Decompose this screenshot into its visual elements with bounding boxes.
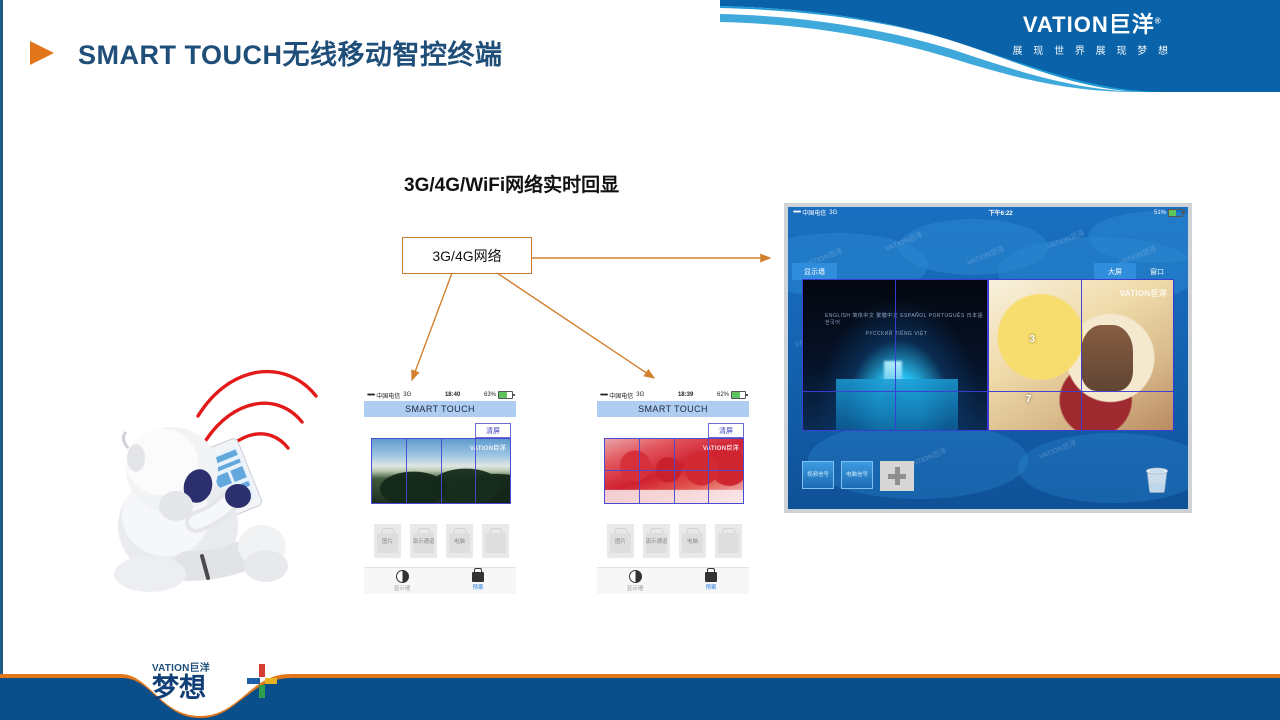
tab-display-wall[interactable]: 显示墙	[364, 568, 440, 594]
briefcase-icon	[705, 572, 717, 582]
app-title-bar: SMART TOUCH	[597, 401, 749, 417]
ice-sculpture-window[interactable]: ENGLISH 简体中文 繁體中文 ESPAÑOL PORTUGUÊS 日本語 …	[802, 279, 988, 431]
video-signal-button[interactable]: 视频信号	[802, 461, 834, 489]
brand-name: VATION巨洋®	[1013, 14, 1172, 36]
battery-icon	[498, 391, 513, 399]
tab-label: 预案	[705, 583, 716, 591]
app-label: 图片	[607, 537, 634, 545]
brand-logo: VATION巨洋® 展 现 世 界 展 现 梦 想	[1013, 14, 1172, 57]
clear-screen-button[interactable]: 清屏	[475, 423, 511, 438]
carrier-label: 中国电信	[802, 208, 826, 217]
phone-status-bar: ••••• 中国电信 3G 18:39 62%	[597, 389, 749, 401]
footer-brand-name: VATION巨洋	[152, 659, 210, 674]
signal-dots-icon: •••••	[793, 209, 800, 216]
battery-icon	[1168, 209, 1183, 217]
tab-bigscreen[interactable]: 大屏	[1094, 263, 1136, 280]
robot-mascot	[110, 330, 360, 600]
tab-label: 显示墙	[394, 584, 411, 592]
clock-label: 18:40	[421, 392, 484, 398]
app-icon-image[interactable]: 图片	[374, 524, 401, 558]
tab-label: 预案	[472, 583, 483, 591]
tablet-screen: VATION巨洋 VATION巨洋 VATION巨洋 VATION巨洋 VATI…	[788, 207, 1188, 509]
window-badge: 7	[1026, 394, 1032, 405]
app-icon-demo-channel[interactable]: 演示通道	[643, 524, 670, 558]
slide: VATION巨洋® 展 现 世 界 展 现 梦 想 SMART TOUCH无线移…	[0, 0, 1280, 720]
clock-label: 下午6:22	[847, 208, 1154, 217]
tab-display-wall[interactable]: 显示墙	[597, 568, 673, 594]
phone-tab-bar: 显示墙 预案	[597, 567, 749, 594]
battery-percent-label: 51%	[1154, 210, 1166, 216]
app-icon-row: 图片 演示通道 电脑	[364, 515, 516, 567]
phone-preview-area: 清屏 VATION巨洋	[364, 417, 516, 515]
footer: VATION巨洋 梦想	[0, 654, 1280, 720]
footer-logo: VATION巨洋 梦想	[152, 659, 210, 702]
brand-name-text: VATION巨洋	[1023, 12, 1155, 37]
plus-icon[interactable]	[880, 461, 914, 491]
left-edge-rule	[0, 0, 3, 680]
video-wall-preview-right[interactable]: VATION巨洋	[604, 438, 744, 504]
contrast-icon	[629, 570, 642, 583]
trash-bin-icon[interactable]	[1144, 465, 1170, 493]
carrier-label: 中国电信	[376, 391, 400, 400]
language-row-1: ENGLISH 简体中文 繁體中文 ESPAÑOL PORTUGUÊS 日本語 …	[825, 312, 987, 326]
language-row-2: РУССКИЙ TIẾNG VIỆT	[866, 331, 928, 337]
app-icon-computer[interactable]: 电脑	[446, 524, 473, 558]
computer-signal-button[interactable]: 电脑信号	[841, 461, 873, 489]
battery-percent-label: 63%	[484, 392, 496, 398]
tab-label: 显示墙	[627, 584, 644, 592]
tablet-left-tabs: 显示墙	[792, 263, 837, 280]
tab-presets[interactable]: 预案	[440, 568, 516, 594]
tab-display-wall[interactable]: 显示墙	[792, 263, 837, 280]
tablet-toolbar: 视频信号 电脑信号	[802, 461, 914, 491]
app-icon-image[interactable]: 图片	[607, 524, 634, 558]
app-icon-computer[interactable]: 电脑	[679, 524, 706, 558]
contrast-icon	[396, 570, 409, 583]
network-label: 3G	[829, 210, 837, 216]
battery-percent-label: 62%	[717, 392, 729, 398]
app-icon-more[interactable]	[482, 524, 509, 558]
briefcase-icon	[472, 572, 484, 582]
clock-label: 18:39	[654, 392, 717, 398]
section-headline: 3G/4G/WiFi网络实时回显	[404, 170, 619, 197]
callout-3g4g-network: 3G/4G网络	[402, 237, 532, 274]
signal-dots-icon: •••••	[600, 392, 607, 399]
tablet-device: VATION巨洋 VATION巨洋 VATION巨洋 VATION巨洋 VATI…	[784, 203, 1192, 513]
phone-tab-bar: 显示墙 预案	[364, 567, 516, 594]
phone-status-bar: ••••• 中国电信 3G 18:40 63%	[364, 389, 516, 401]
app-label: 电脑	[679, 537, 706, 545]
signal-dots-icon: •••••	[367, 392, 374, 399]
phone-mockup-right: ••••• 中国电信 3G 18:39 62% SMART TOUCH 清屏 V…	[597, 389, 749, 594]
phone-preview-area: 清屏 VATION巨洋	[597, 417, 749, 515]
dessert-window[interactable]: 3 7 VATION巨洋	[988, 279, 1174, 431]
app-label: 图片	[374, 537, 401, 545]
app-label: 演示通道	[410, 537, 437, 545]
app-icon-more[interactable]	[715, 524, 742, 558]
tab-window[interactable]: 窗口	[1136, 263, 1178, 280]
carrier-label: 中国电信	[609, 391, 633, 400]
footer-slogan: 梦想	[152, 675, 210, 702]
callout-label: 3G/4G网络	[432, 246, 501, 266]
battery-icon	[731, 391, 746, 399]
window-badge: 3	[1029, 334, 1035, 345]
tab-presets[interactable]: 预案	[673, 568, 749, 594]
video-wall-preview-left[interactable]: VATION巨洋	[371, 438, 511, 504]
registered-mark: ®	[1155, 17, 1162, 26]
brand-tagline: 展 现 世 界 展 现 梦 想	[1013, 42, 1172, 57]
clear-screen-button[interactable]: 清屏	[708, 423, 744, 438]
header-swoosh-graphic	[720, 0, 1280, 92]
network-label: 3G	[403, 392, 411, 398]
app-icon-demo-channel[interactable]: 演示通道	[410, 524, 437, 558]
video-wall-canvas[interactable]: ENGLISH 简体中文 繁體中文 ESPAÑOL PORTUGUÊS 日本語 …	[802, 279, 1174, 431]
tablet-right-tabs: 大屏 窗口	[1094, 263, 1178, 280]
app-icon-row: 图片 演示通道 电脑	[597, 515, 749, 567]
network-label: 3G	[636, 392, 644, 398]
pinwheel-plus-icon	[247, 664, 277, 698]
app-title-bar: SMART TOUCH	[364, 401, 516, 417]
app-label: 电脑	[446, 537, 473, 545]
triangle-right-icon	[30, 41, 54, 65]
watermark: VATION巨洋	[1120, 288, 1167, 299]
phone-mockup-left: ••••• 中国电信 3G 18:40 63% SMART TOUCH 清屏 V…	[364, 389, 516, 594]
page-title: SMART TOUCH无线移动智控终端	[78, 33, 503, 72]
app-label: 演示通道	[643, 537, 670, 545]
tablet-status-bar: ••••• 中国电信 3G 下午6:22 51%	[788, 207, 1188, 218]
